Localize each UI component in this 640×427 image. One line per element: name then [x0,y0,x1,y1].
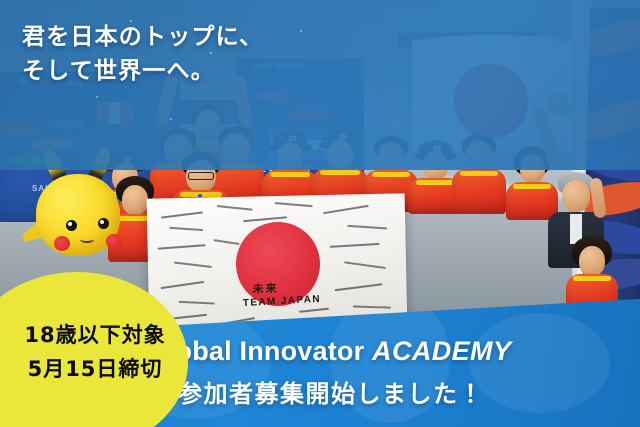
headline-text: 君を日本のトップに、 そして世界一へ。 [22,20,263,88]
pikachu-cheek-left [54,236,70,251]
pikachu-eye-left [66,220,77,231]
flag-kanji-text: 未来 [252,280,278,297]
pikachu-mouth [80,236,94,243]
pikachu-cheek-right [106,234,122,249]
promo-poster: FIRST GLOBAL SALVADOR FIRST GLOBAL SALVA… [0,0,640,427]
signed-japan-flag: 未来 TEAM JAPAN [147,193,408,334]
pikachu-body [36,174,120,256]
program-title-italic: ACADEMY [372,336,511,366]
pikachu-eye-right [98,218,109,229]
eligibility-badge-text: 18歳以下対象 5月15日締切 [4,318,186,386]
eyeglasses-icon [188,172,214,180]
